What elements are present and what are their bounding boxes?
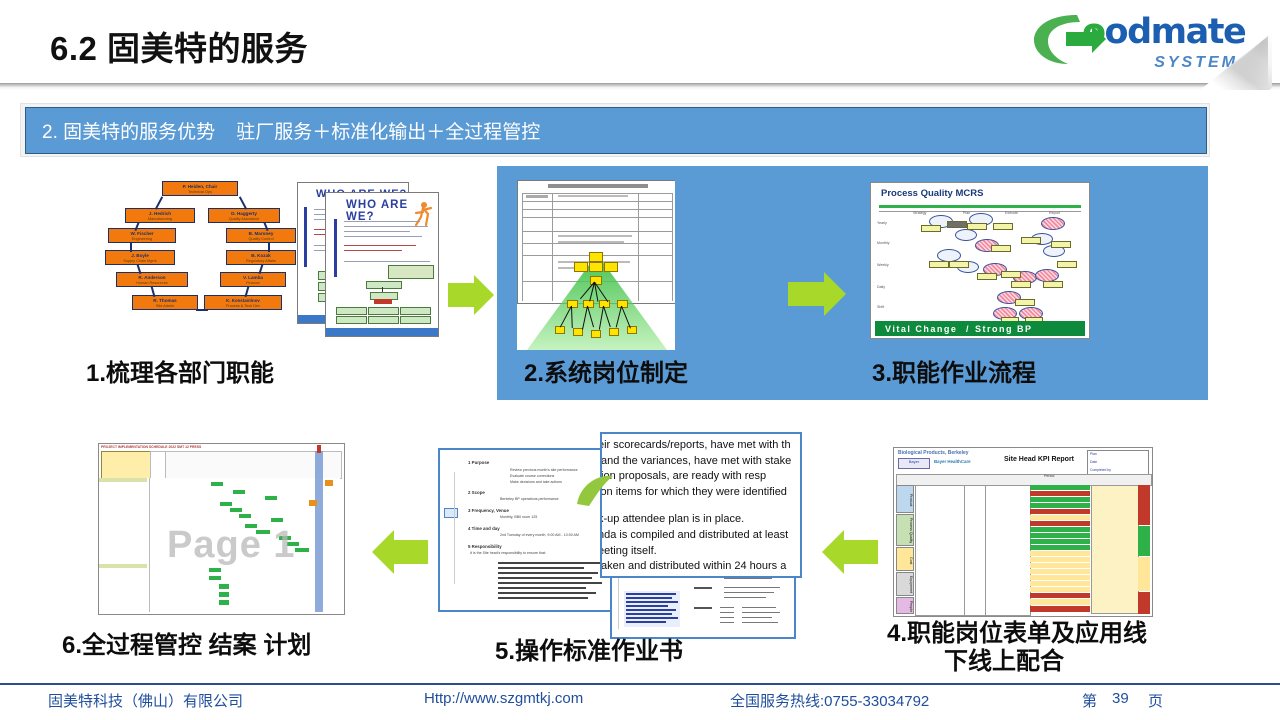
sop2-line [724, 578, 772, 579]
sop-margin [454, 472, 455, 584]
sop2-line [720, 617, 734, 618]
kpi-target-col [985, 485, 1031, 616]
kpi-cell [1030, 593, 1090, 598]
doc-line [344, 221, 420, 222]
sop-zoom-overlay: eir scorecards/reports, have met with th… [600, 432, 802, 578]
sop-section: 4 Time and day [468, 526, 500, 531]
footer-company: 固美特科技（佛山）有限公司 [48, 690, 243, 711]
gantt-bar [230, 508, 242, 512]
kpi-cell [1030, 503, 1090, 508]
mcrs-col-label: Execute [1005, 211, 1018, 215]
sop2-heading [694, 587, 712, 589]
mcrs-label [991, 245, 1011, 252]
table-row [522, 201, 672, 202]
footer-page-number: 39 [1112, 690, 1129, 707]
mcrs-label [1021, 237, 1041, 244]
kpi-meta-label: Plan [1090, 452, 1097, 456]
page-title: 6.2 固美特的服务 [50, 22, 308, 70]
doc-node [368, 307, 399, 315]
sop2-line [742, 617, 772, 618]
kpi-cell [1030, 539, 1090, 544]
gantt-title: PROJECT IMPLEMENTATION SCHEDULE 2022 SMT… [101, 445, 201, 449]
gantt-task-col [101, 478, 150, 612]
sop2-heading [694, 607, 712, 609]
gantt-col [150, 451, 166, 479]
sop-bullet [498, 572, 598, 574]
sop-bullet [498, 567, 584, 569]
sop2-line [626, 601, 678, 603]
thumb-mcrs: Process Quality MCRS Strategy Plan Execu… [870, 182, 1090, 339]
doc-node [400, 316, 431, 324]
overlay-line: eeting itself. [600, 544, 791, 560]
kpi-group-label: Product [896, 485, 914, 513]
kpi-meta-panel: Plan Date Completed by [1087, 450, 1149, 476]
sop-purpose-line: Evaluate course corrections [510, 474, 554, 478]
overlay-line: tion proposals, are ready with resp [600, 469, 791, 485]
gantt-watermark: Page 1 [167, 524, 296, 567]
doc-line [344, 245, 416, 246]
sop2-line [626, 597, 672, 599]
kpi-total-cell [1138, 485, 1150, 525]
kpi-cell [1030, 509, 1090, 514]
doc-sidebar [334, 219, 337, 277]
kpi-cell [1030, 587, 1090, 592]
sop-bullet [498, 562, 602, 564]
table-title [548, 184, 648, 188]
sop2-line [720, 622, 734, 623]
caption-step1: 1.梳理各部门职能 [86, 360, 274, 388]
doc-node [336, 307, 367, 315]
org-connector [196, 309, 208, 311]
kpi-cell [1030, 563, 1090, 568]
table-row [522, 231, 672, 232]
doc-node-red [374, 299, 392, 304]
overlay-line: k-up attendee plan is in place. [600, 512, 791, 528]
cascade-node [589, 252, 603, 262]
doc-node [368, 316, 399, 324]
table-row [522, 209, 672, 210]
sop2-line [626, 609, 676, 611]
kpi-cell [1030, 545, 1090, 550]
doc-line [344, 226, 428, 227]
kpi-brand-a: Bayer [898, 458, 930, 469]
logo-subtitle: SYSTEM [1154, 54, 1238, 72]
mcrs-label [1051, 241, 1071, 248]
mcrs-node [1041, 217, 1065, 230]
mcrs-row-label: Monthly [877, 241, 890, 245]
table-grid [552, 193, 553, 301]
gantt-bar [209, 568, 221, 572]
footer-page-suffix: 页 [1148, 690, 1163, 711]
table-cell [558, 195, 628, 197]
kpi-cell [1030, 491, 1090, 496]
logo-o: o [1082, 12, 1105, 52]
sop-bullet [498, 582, 602, 584]
sop2-line [724, 597, 766, 598]
doc-node [336, 316, 367, 324]
cascade-node [567, 300, 578, 308]
org-node: W. Fischer Engineering [108, 228, 176, 243]
sop-section: 3 Frequency, Venue [468, 508, 509, 513]
gantt-bar [219, 600, 229, 605]
doc-table [388, 265, 434, 279]
table-grid [522, 193, 523, 301]
sop2-line [626, 621, 666, 623]
mcrs-footer-sep: / [966, 324, 969, 334]
kpi-total-cell [1138, 557, 1150, 591]
caption-step4-line2: 下线上配合 [944, 648, 1064, 676]
gantt-legend [101, 451, 151, 479]
doc-line [344, 250, 402, 251]
gantt-bar [220, 502, 232, 506]
header-divider-shadow [0, 87, 1280, 90]
sop-purpose-line: Make decisions and take actions [510, 480, 562, 484]
kpi-cell [1030, 569, 1090, 574]
section-banner: 2. 固美特的服务优势 驻厂服务＋标准化输出＋全过程管控 [25, 107, 1207, 154]
gantt-flag [325, 480, 333, 486]
sop-frequency-line: Monthly, BB0 room 125 [500, 515, 537, 519]
mcrs-label [949, 261, 969, 268]
mcrs-label [1043, 281, 1063, 288]
kpi-cell [1030, 557, 1090, 562]
thumb-gantt-schedule: PROJECT IMPLEMENTATION SCHEDULE 2022 SMT… [98, 443, 345, 615]
mcrs-label [947, 221, 967, 228]
arrow-step1-to-step2 [448, 275, 494, 315]
table-grid [672, 193, 673, 301]
org-node: J. Hedrich Manufacturing [125, 208, 195, 223]
table-grid [638, 193, 639, 301]
sop-responsibility-line: It is the Site head's responsibility to … [470, 551, 546, 555]
overlay-line: ion items for which they were identified [600, 485, 791, 501]
arrow-step5-to-step6 [372, 530, 428, 574]
gantt-group-row [99, 564, 147, 568]
kpi-meta-label: Completed by [1090, 468, 1111, 472]
caption-step2: 2.系统岗位制定 [524, 360, 688, 388]
mcrs-col-label: Report [1049, 211, 1060, 215]
mcrs-title: Process Quality MCRS [881, 188, 983, 199]
org-node: R. Thomas Site Admin [132, 295, 198, 310]
cascade-node [574, 262, 588, 272]
sop-bullet [498, 577, 592, 579]
kpi-cell [1030, 575, 1090, 580]
kpi-cell [1030, 497, 1090, 502]
logo-rest: odmate [1105, 12, 1246, 52]
kpi-group-label: Equipment [896, 572, 914, 596]
overlay-line: it pertains. [600, 575, 791, 578]
cascade-node [627, 326, 637, 334]
gantt-bar [211, 482, 223, 486]
table-row [522, 243, 672, 244]
sop2-line [724, 587, 780, 588]
gantt-today-line [315, 451, 323, 612]
overlay-line: tand the variances, have met with stake [600, 454, 791, 470]
sop-time-line: 2nd Tuesday of every month, 9:00 AM - 10… [500, 533, 579, 537]
kpi-cell [1030, 551, 1090, 556]
kpi-metric-col [915, 485, 965, 616]
table-row [522, 193, 672, 194]
gantt-bar [219, 592, 229, 597]
slide-root: 6.2 固美特的服务 Goodmate SYSTEM 2. 固美特的服务优势 驻… [0, 0, 1280, 720]
goodmate-logo: Goodmate SYSTEM [1022, 2, 1272, 84]
doc-sidebar [304, 207, 307, 267]
mcrs-row-label: Daily [877, 285, 885, 289]
doc-node [366, 281, 402, 289]
kpi-cell [1030, 515, 1090, 520]
sop-bullet [498, 592, 596, 594]
sop-scope-line: Berkeley BP operations performance [500, 497, 559, 501]
org-node: J. Boyle Supply Chain Mgmt [105, 250, 175, 265]
sop-bullet [498, 587, 586, 589]
sop-section: 2 Scope [468, 490, 485, 495]
overlay-line: taken and distributed within 24 hours a [600, 559, 791, 575]
doc-node [400, 307, 431, 315]
sop2-line [742, 622, 778, 623]
footer-hotline: 全国服务热线:0755-33034792 [730, 690, 929, 711]
mcrs-row-label: Yearly [877, 221, 887, 225]
mcrs-row-label: Shift [877, 305, 884, 309]
kpi-cell [1030, 485, 1090, 490]
kpi-meta-label: Date [1090, 460, 1097, 464]
thumb-position-system [517, 180, 675, 350]
kpi-group-label: Cost [896, 547, 914, 571]
sop-purpose-line: Review previous month's site performance [510, 468, 578, 472]
caption-step6: 6.全过程管控 结案 计划 [62, 632, 311, 660]
runner-icon [412, 201, 434, 233]
org-node: D. Haggerty Quality Assurance [208, 208, 280, 223]
footer-website[interactable]: Http://www.szgmtkj.com [424, 690, 583, 707]
kpi-group-label: People [896, 597, 914, 614]
sop-section: 1 Purpose [468, 460, 489, 465]
table-cell [558, 241, 624, 243]
mcrs-col-label: Strategy [913, 211, 926, 215]
kpi-org: Biological Products, Berkeley [898, 450, 969, 456]
kpi-cell [1030, 606, 1090, 612]
doc-line [344, 236, 422, 237]
mcrs-col-label: Plan [963, 211, 970, 215]
cascade-node [609, 328, 619, 336]
doc-line [344, 261, 430, 262]
gantt-bar [295, 548, 309, 552]
org-node: V. Lamba Finance [220, 272, 286, 287]
doc-line [344, 231, 410, 232]
sop-stamp [444, 508, 458, 518]
sop-section: 5 Responsibility [468, 544, 502, 549]
cascade-node [589, 262, 603, 272]
mcrs-label [929, 261, 949, 268]
kpi-forecast-block [1091, 485, 1139, 614]
kpi-cell [1030, 527, 1090, 532]
kpi-brand-b: Bayer HealthCare [934, 459, 971, 464]
cascade-node [604, 262, 618, 272]
logo-wordmark: Goodmate [1082, 12, 1245, 52]
kpi-unit-col [964, 485, 986, 616]
mcrs-label [967, 223, 987, 230]
mcrs-label [921, 225, 941, 232]
mcrs-label [977, 273, 997, 280]
section-banner-text: 2. 固美特的服务优势 驻厂服务＋标准化输出＋全过程管控 [42, 117, 540, 144]
sop2-line [626, 613, 672, 615]
kpi-period-label: Period [1044, 474, 1054, 478]
kpi-total-cell [1138, 526, 1150, 556]
sop2-line [626, 605, 668, 607]
kpi-cell [1030, 533, 1090, 538]
cascade-node [591, 330, 601, 338]
mcrs-row-label: Weekly [877, 263, 889, 267]
gantt-group-row [99, 478, 147, 482]
mcrs-label [1001, 271, 1021, 278]
kpi-group-label: Process Quality [896, 514, 914, 546]
table-cell [558, 235, 632, 237]
gantt-bar [271, 518, 283, 522]
mcrs-footer-a: Vital Change [885, 324, 957, 334]
org-connector [130, 242, 132, 252]
thumb-org-chart: P. Heiden, Chair Technical Ops J. Hedric… [100, 178, 305, 338]
mcrs-footer-b: Strong BP [975, 324, 1033, 334]
gantt-bar [209, 576, 221, 580]
thumb-kpi-report: Biological Products, Berkeley Bayer Baye… [893, 447, 1153, 617]
caption-step5: 5.操作标准作业书 [495, 638, 683, 666]
mcrs-label [1057, 261, 1077, 268]
doc-footer-bar [326, 328, 438, 336]
kpi-total-cell [1138, 592, 1150, 614]
sop2-line [720, 612, 734, 613]
gantt-today-marker [317, 445, 321, 453]
sop2-line [626, 617, 678, 619]
overlay-line: eir scorecards/reports, have met with th [600, 438, 791, 454]
footer-divider [0, 683, 1280, 685]
gantt-flag [309, 500, 317, 506]
table-row [522, 217, 672, 218]
kpi-cell [1030, 599, 1090, 605]
mcrs-node [955, 229, 977, 241]
table-cell [526, 195, 548, 198]
gantt-bar [219, 584, 229, 589]
kpi-cell [1030, 521, 1090, 526]
footer-page-prefix: 第 [1082, 690, 1097, 711]
sop2-line [720, 607, 734, 608]
sop-bullet [498, 597, 588, 599]
mcrs-rule [879, 205, 1081, 208]
kpi-cell [1030, 581, 1090, 586]
mcrs-label [1011, 281, 1031, 288]
kpi-title: Site Head KPI Report [1004, 456, 1074, 463]
org-node: K. Konstantinov Process & Tech Dev [204, 295, 282, 310]
sop2-line [626, 593, 676, 595]
thumb-who-are-we-front: WHO ARE WE? [325, 192, 439, 337]
org-node: P. Heiden, Chair Technical Ops [162, 181, 238, 196]
arrow-step4-to-step5 [822, 530, 878, 574]
leaf-swoosh-icon [575, 470, 615, 510]
org-node: B. Maroney Quality Control [226, 228, 296, 243]
mcrs-label [1015, 299, 1035, 306]
gantt-bar [265, 496, 277, 500]
org-connector [268, 242, 270, 252]
overlay-line: nda is compiled and distributed at least [600, 528, 791, 544]
org-node: R. Anderson Human Resources [116, 272, 188, 287]
sop2-line [742, 607, 776, 608]
mcrs-label [993, 223, 1013, 230]
gantt-bar [239, 514, 251, 518]
sop2-line [742, 612, 780, 613]
caption-step3: 3.职能作业流程 [872, 360, 1036, 388]
sop2-line [724, 592, 774, 593]
caption-step4-line1: 4.职能岗位表单及应用线 [887, 620, 1147, 648]
arrow-step2-to-step3 [788, 272, 846, 316]
gantt-bar [233, 490, 245, 494]
